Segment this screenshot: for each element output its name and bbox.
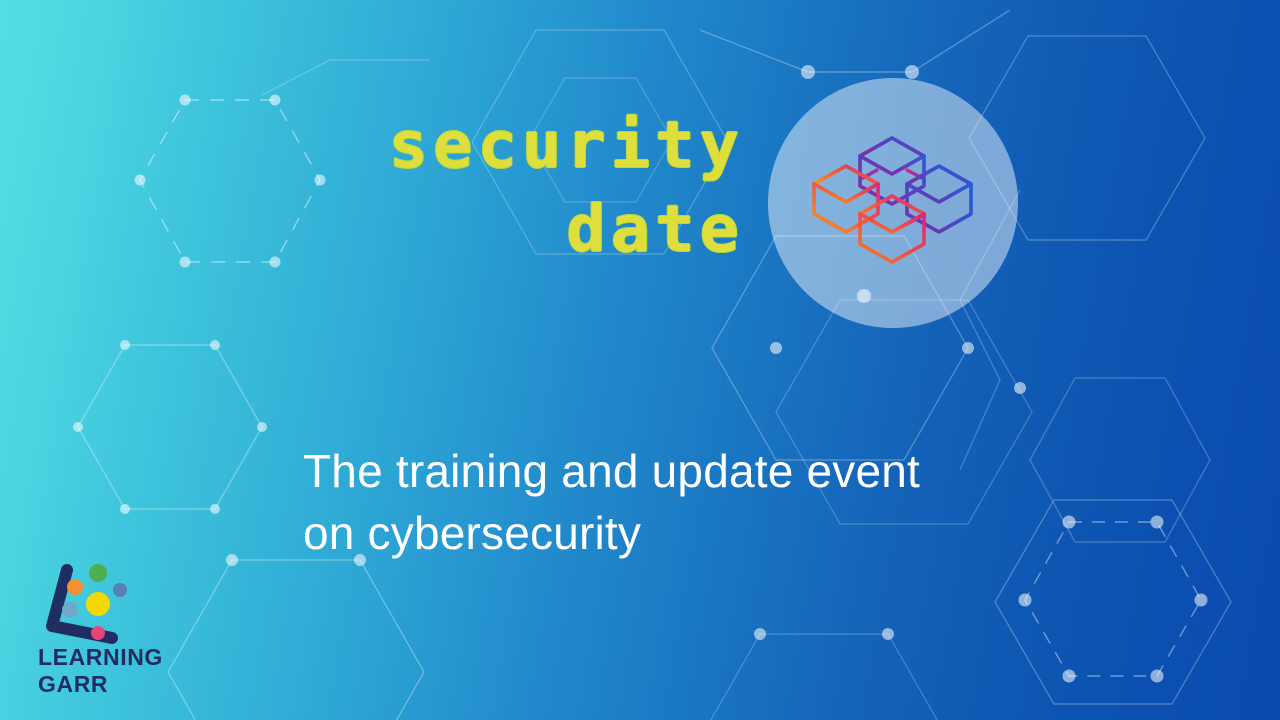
logo-dot-green (89, 564, 107, 582)
garr-logo-mark (36, 556, 176, 646)
logo-dot-lightblue (62, 602, 78, 618)
logo-dot-orange (67, 579, 83, 595)
node-dot (801, 65, 815, 79)
node-dot (120, 340, 130, 350)
hexagon-solid-bottom-center (696, 634, 952, 720)
garr-logo-text-line-1: LEARNING (38, 644, 163, 671)
title-line-2: date (0, 188, 744, 272)
node-dot (1151, 516, 1164, 529)
garr-logo-text: LEARNING GARR (38, 644, 163, 698)
node-dot (1063, 670, 1076, 683)
event-title: security date (0, 104, 762, 272)
blockchain-cubes-icon (806, 112, 980, 286)
node-dot (1014, 382, 1026, 394)
title-line-1: security (0, 104, 744, 188)
node-dot (882, 628, 894, 640)
node-dot (210, 340, 220, 350)
node-dot (754, 628, 766, 640)
node-dot (1019, 594, 1032, 607)
node-dot (120, 504, 130, 514)
node-dot (257, 422, 267, 432)
logo-dot-steelblue (113, 583, 127, 597)
garr-logo-text-line-2: GARR (38, 671, 163, 698)
node-dot (210, 504, 220, 514)
node-dot (1063, 516, 1076, 529)
event-subtitle: The training and update event on cyberse… (303, 440, 1063, 564)
cube-top (860, 138, 924, 204)
learning-garr-logo: LEARNING GARR (36, 556, 211, 701)
node-dot (905, 65, 919, 79)
logo-dot-pink (91, 626, 105, 640)
hexagon-solid-left (78, 345, 262, 509)
subtitle-line-1: The training and update event (303, 440, 1063, 502)
network-line-top (700, 10, 1010, 72)
slide-canvas: security date The training and update ev… (0, 0, 1280, 720)
network-line-left (262, 60, 430, 95)
cube-bottom (860, 196, 924, 262)
node-dot (962, 342, 974, 354)
node-dot (1151, 670, 1164, 683)
node-dot (770, 342, 782, 354)
node-dot (1195, 594, 1208, 607)
subtitle-line-2: on cybersecurity (303, 502, 1063, 564)
node-dot (73, 422, 83, 432)
logo-dot-yellow (86, 592, 110, 616)
node-dot (226, 554, 238, 566)
